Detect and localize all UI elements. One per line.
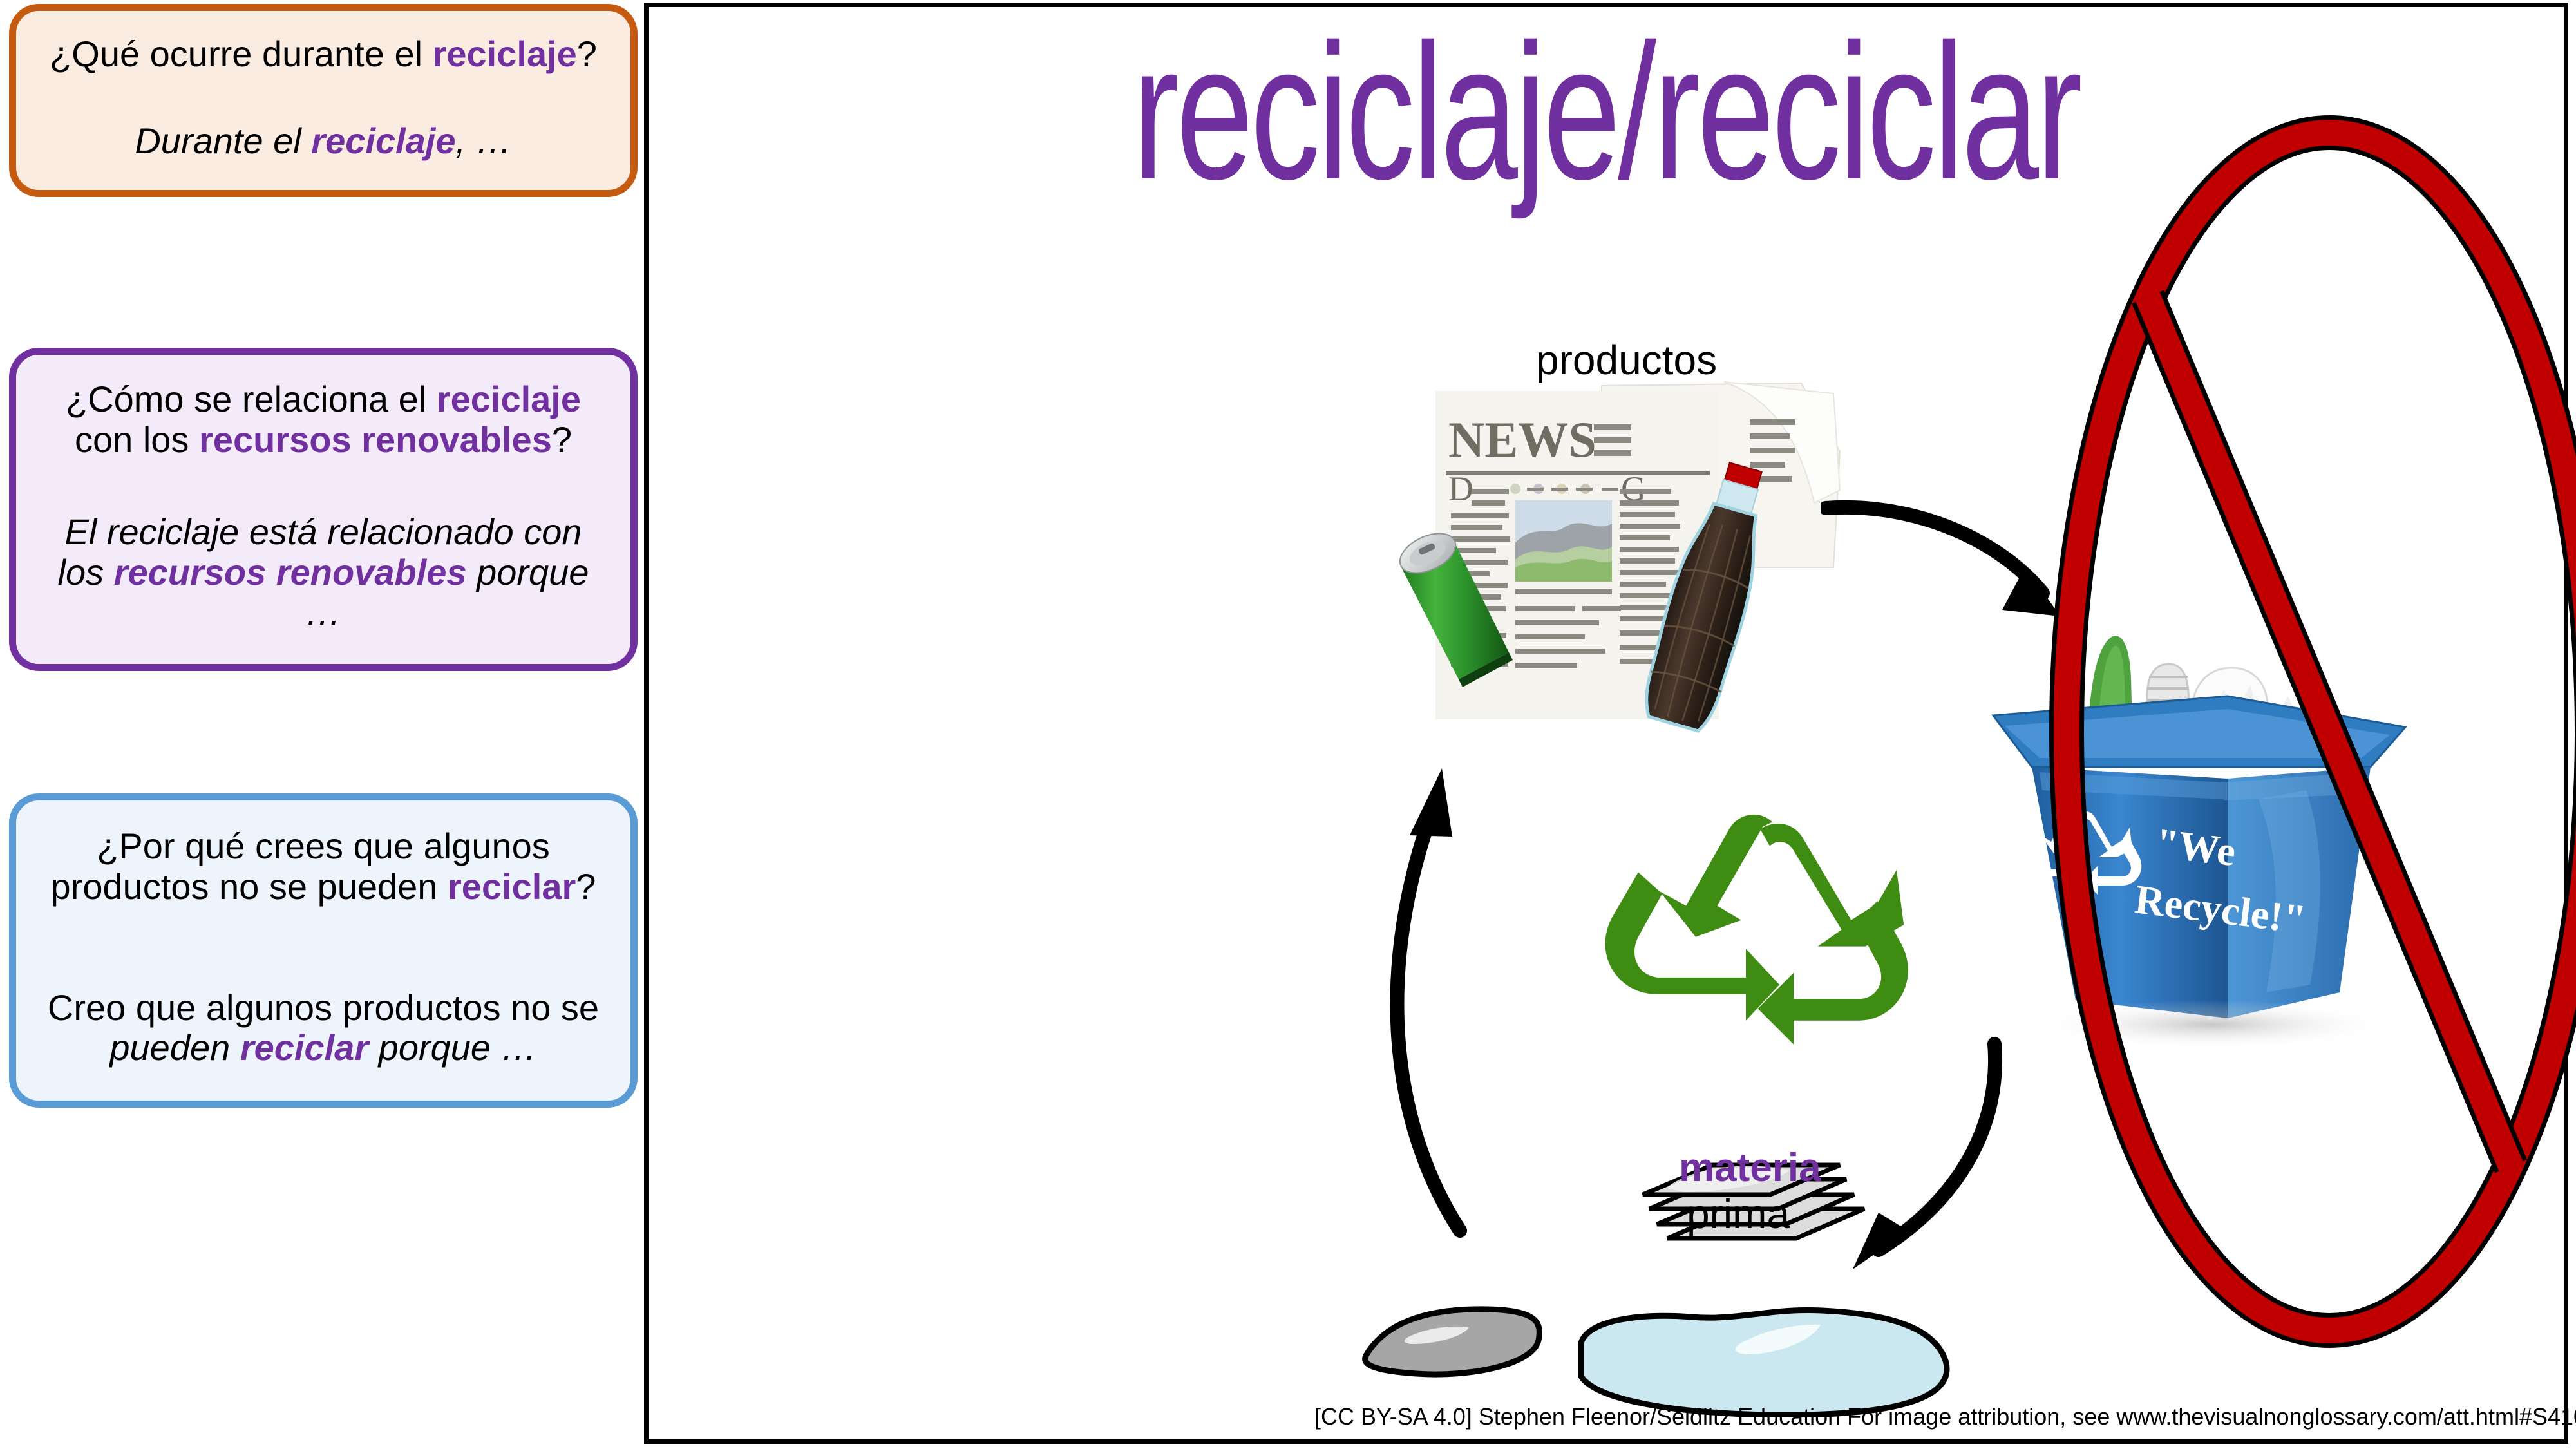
question-text: ¿Cómo se relaciona el reciclaje con los … xyxy=(42,379,605,460)
answer-stem-text: Creo que algunos productos no se pueden … xyxy=(42,988,605,1068)
main-illustration-panel: reciclaje/reciclar productos NEWS xyxy=(644,3,2568,1444)
attribution-footer: [CC BY-SA 4.0] Stephen Fleenor/Seidlitz … xyxy=(1314,1403,2576,1430)
svg-text:"We: "We xyxy=(2153,819,2238,875)
recycling-symbol-icon xyxy=(1576,767,1949,1102)
svg-text:D: D xyxy=(1448,469,1473,508)
answer-stem-text: El reciclaje está relacionado con los re… xyxy=(42,512,605,633)
products-illustration: NEWS D G xyxy=(1389,374,1879,735)
question-text: ¿Por qué crees que algunos productos no … xyxy=(42,826,605,907)
answer-stem-text: Durante el reciclaje, … xyxy=(42,121,605,162)
question-card-recursos-renovables[interactable]: ¿Cómo se relaciona el reciclaje con los … xyxy=(9,348,638,671)
question-sidebar: ¿Qué ocurre durante el reciclaje? Durant… xyxy=(0,0,644,1449)
question-card-reciclaje[interactable]: ¿Qué ocurre durante el reciclaje? Durant… xyxy=(9,4,638,197)
page-title: reciclaje/reciclar xyxy=(916,15,2295,208)
label-prima: prima xyxy=(1687,1193,1790,1235)
recycling-bin-illustration: "We Recycle!" xyxy=(1975,606,2439,1070)
label-materia: materia xyxy=(1679,1148,1821,1188)
infographic-page: ¿Qué ocurre durante el reciclaje? Durant… xyxy=(0,0,2576,1449)
question-text: ¿Qué ocurre durante el reciclaje? xyxy=(42,34,605,75)
svg-text:NEWS: NEWS xyxy=(1448,412,1596,468)
question-card-reciclar[interactable]: ¿Por qué crees que algunos productos no … xyxy=(9,793,638,1108)
raw-material-rock-and-water xyxy=(1338,1250,2059,1417)
